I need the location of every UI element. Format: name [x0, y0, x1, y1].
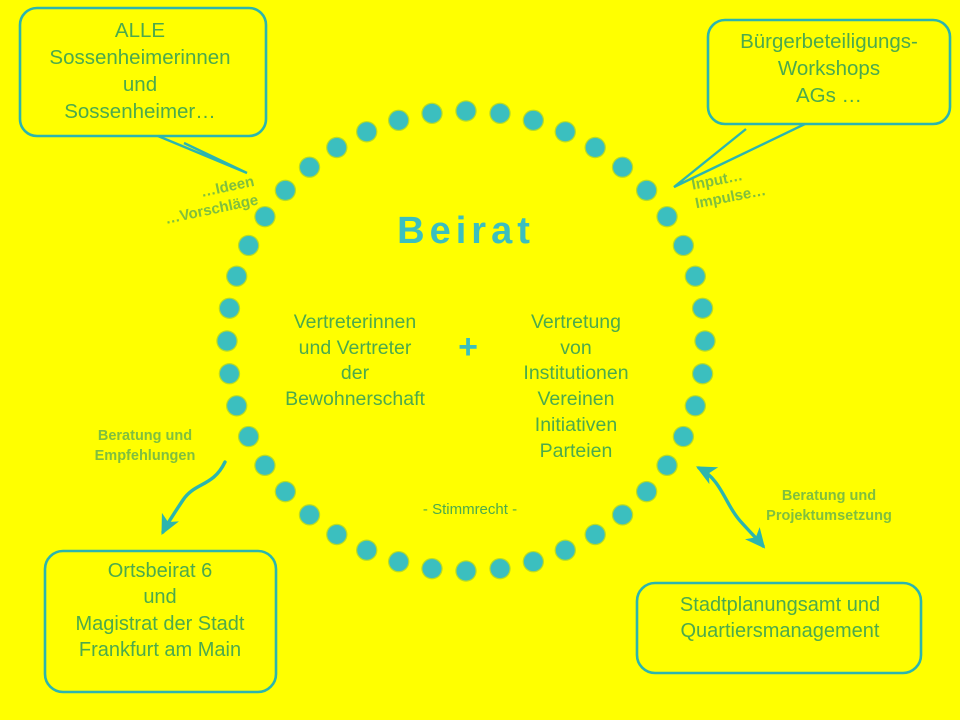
- ring-dot-halo: [656, 206, 677, 227]
- ring-dot: [422, 104, 441, 123]
- ring-dot-halo: [612, 156, 633, 177]
- ring-dot-halo: [421, 558, 442, 579]
- ring-dot-halo: [299, 156, 320, 177]
- ring-dot: [300, 505, 319, 524]
- ring-dot: [693, 299, 712, 318]
- ring-dot-halo: [388, 551, 409, 572]
- ring-dot: [422, 559, 441, 578]
- ring-dot-halo: [356, 121, 377, 142]
- ring-dot-halo: [523, 551, 544, 572]
- ring-dot-halo: [388, 110, 409, 131]
- ring-dot: [357, 541, 376, 560]
- ring-dot: [613, 158, 632, 177]
- ring-dot-halo: [585, 524, 606, 545]
- ring-dot-halo: [523, 110, 544, 131]
- ring-dot-halo: [226, 266, 247, 287]
- ring-dot: [218, 332, 237, 351]
- bubble-left-label: ALLE Sossenheimerinnen und Sossenheimer…: [16, 17, 264, 125]
- ring-dot-halo: [326, 524, 347, 545]
- ring-dot: [586, 138, 605, 157]
- ring-dot-halo: [299, 504, 320, 525]
- page-title: Beirat: [336, 206, 596, 256]
- ring-dot: [227, 396, 246, 415]
- ring-dot: [556, 122, 575, 141]
- bubble-right-tail-label: Input… Impulse…: [690, 153, 815, 214]
- ring-dot: [556, 541, 575, 560]
- ring-dot: [524, 552, 543, 571]
- arrow-left-curved: [163, 462, 225, 532]
- ring-dot-halo: [612, 504, 633, 525]
- ring-dot: [637, 181, 656, 200]
- plus-icon: +: [448, 330, 488, 364]
- ring-dot-halo: [455, 100, 476, 121]
- ring-dot: [327, 525, 346, 544]
- ring-dot-halo: [692, 363, 713, 384]
- ring-dot: [220, 364, 239, 383]
- ring-dot-halo: [636, 481, 657, 502]
- ring-dot: [686, 267, 705, 286]
- ring-dot-halo: [219, 298, 240, 319]
- ring-dot-halo: [673, 235, 694, 256]
- ring-dot-halo: [685, 266, 706, 287]
- ring-dot-halo: [275, 180, 296, 201]
- ring-dot: [300, 158, 319, 177]
- ring-dot-halo: [489, 103, 510, 124]
- ring-dot-halo: [489, 558, 510, 579]
- ring-dot: [389, 552, 408, 571]
- ring-dot-halo: [226, 395, 247, 416]
- ring-dot: [276, 181, 295, 200]
- ring-dot: [674, 427, 693, 446]
- ring-dot: [658, 207, 677, 226]
- arrow-left-caption: Beratung und Empfehlungen: [75, 427, 215, 466]
- ring-dot: [457, 102, 476, 121]
- ring-dot-halo: [275, 481, 296, 502]
- ring-dot: [255, 456, 274, 475]
- ring-dot: [220, 299, 239, 318]
- ring-dot: [255, 207, 274, 226]
- ring-dot: [613, 505, 632, 524]
- ring-dot: [658, 456, 677, 475]
- ring-dot-halo: [238, 426, 259, 447]
- ring-dot-halo: [555, 121, 576, 142]
- ring-dot-halo: [685, 395, 706, 416]
- ring-dot-halo: [636, 180, 657, 201]
- box-bottom-left-label: Ortsbeirat 6 und Magistrat der Stadt Fra…: [50, 558, 270, 664]
- ring-dot-halo: [326, 137, 347, 158]
- center-footnote: - Stimmrecht -: [366, 500, 574, 520]
- ring-dot: [276, 482, 295, 501]
- ring-dot: [389, 111, 408, 130]
- ring-dot-halo: [219, 363, 240, 384]
- ring-dot: [586, 525, 605, 544]
- arrow-right-caption: Beratung und Projektumsetzung: [748, 487, 910, 526]
- ring-dot-halo: [694, 330, 715, 351]
- ring-dot: [637, 482, 656, 501]
- ring-dot: [357, 122, 376, 141]
- ring-dot: [239, 427, 258, 446]
- ring-dot: [491, 104, 510, 123]
- ring-dot: [239, 236, 258, 255]
- bubble-left-tail-label: …Ideen …Vorschläge: [125, 172, 260, 237]
- center-column-right: Vertretung von Institutionen Vereinen In…: [492, 310, 660, 464]
- ring-dot-halo: [238, 235, 259, 256]
- ring-dot: [327, 138, 346, 157]
- ring-dot: [227, 267, 246, 286]
- ring-dot: [696, 332, 715, 351]
- ring-dot: [524, 111, 543, 130]
- ring-dot-halo: [555, 540, 576, 561]
- box-bottom-right-label: Stadtplanungsamt und Quartiersmanagement: [640, 592, 920, 645]
- ring-dot-halo: [356, 540, 377, 561]
- ring-dot: [693, 364, 712, 383]
- ring-dot-halo: [216, 330, 237, 351]
- ring-dot-halo: [692, 298, 713, 319]
- ring-dot-halo: [673, 426, 694, 447]
- center-column-left: Vertreterinnen und Vertreter der Bewohne…: [262, 310, 448, 413]
- ring-dot-halo: [455, 560, 476, 581]
- diagram-canvas: ALLE Sossenheimerinnen und Sossenheimer……: [0, 0, 960, 720]
- ring-dot: [457, 562, 476, 581]
- ring-dot: [674, 236, 693, 255]
- ring-dot-halo: [585, 137, 606, 158]
- bubble-right-label: Bürgerbeteiligungs- Workshops AGs …: [708, 28, 950, 109]
- ring-dot-halo: [254, 455, 275, 476]
- ring-dot-halo: [421, 103, 442, 124]
- ring-dot: [686, 396, 705, 415]
- ring-dot: [491, 559, 510, 578]
